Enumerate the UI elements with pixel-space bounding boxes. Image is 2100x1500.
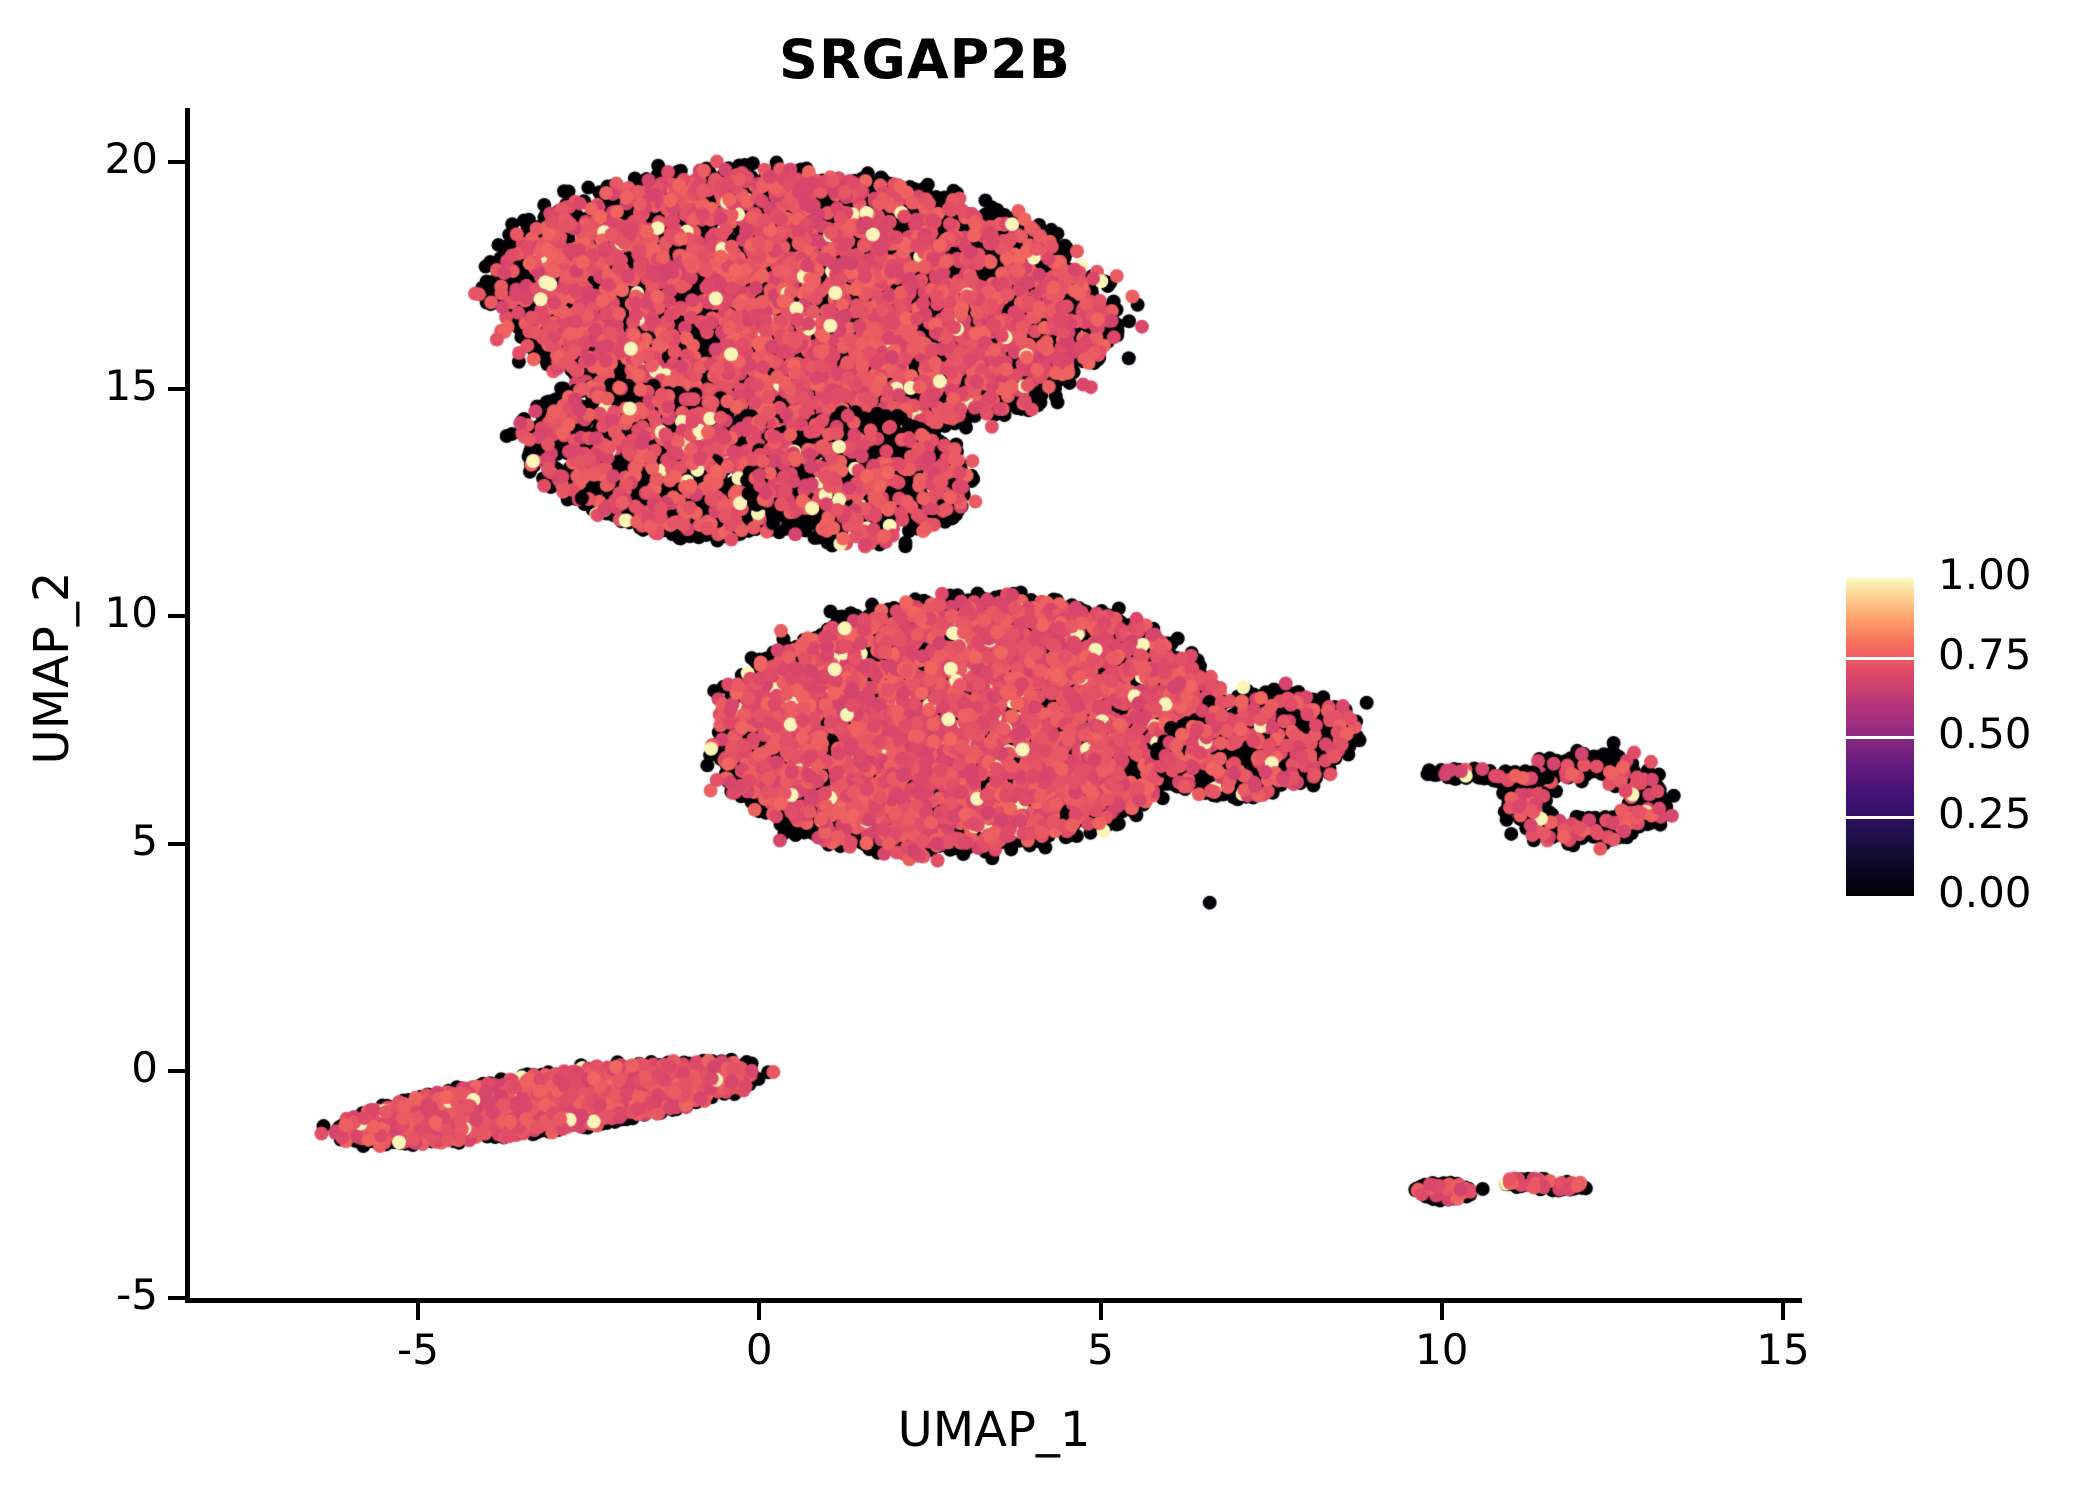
x-tick-mark bbox=[1440, 1303, 1444, 1320]
y-tick-mark bbox=[168, 1069, 185, 1073]
chart-title: SRGAP2B bbox=[0, 28, 1850, 91]
y-tick-label: 20 bbox=[0, 134, 158, 183]
colorbar[interactable]: 0.000.250.500.751.00 bbox=[1846, 578, 2076, 908]
y-tick-mark bbox=[168, 614, 185, 618]
x-axis-label: UMAP_1 bbox=[188, 1402, 1800, 1458]
colorbar-tick-label: 0.25 bbox=[1938, 789, 2032, 838]
y-tick-mark bbox=[168, 1296, 185, 1300]
colorbar-tick-mark bbox=[1846, 657, 1914, 660]
x-tick-mark bbox=[1781, 1303, 1785, 1320]
y-tick-mark bbox=[168, 842, 185, 846]
colorbar-tick-label: 0.75 bbox=[1938, 630, 2032, 679]
scatter-plot-area[interactable] bbox=[188, 110, 1800, 1298]
y-tick-mark bbox=[168, 160, 185, 164]
figure-root: SRGAP2B -505101520 -5051015 UMAP_1 UMAP_… bbox=[0, 0, 2100, 1500]
scatter-canvas[interactable] bbox=[188, 110, 1800, 1298]
x-axis-spine bbox=[185, 1298, 1802, 1303]
x-tick-mark bbox=[416, 1303, 420, 1320]
y-axis-spine bbox=[185, 108, 190, 1303]
x-tick-label: 5 bbox=[1021, 1325, 1181, 1374]
x-tick-label: 10 bbox=[1362, 1325, 1522, 1374]
x-tick-mark bbox=[1099, 1303, 1103, 1320]
y-tick-mark bbox=[168, 387, 185, 391]
colorbar-tick-label: 1.00 bbox=[1938, 550, 2032, 599]
colorbar-tick-label: 0.50 bbox=[1938, 709, 2032, 758]
x-tick-label: 0 bbox=[679, 1325, 839, 1374]
y-axis-label: UMAP_2 bbox=[24, 358, 80, 978]
colorbar-tick-label: 0.00 bbox=[1938, 868, 2032, 917]
colorbar-tick-mark bbox=[1846, 736, 1914, 739]
colorbar-tick-mark bbox=[1846, 816, 1914, 819]
y-tick-label: 0 bbox=[0, 1043, 158, 1092]
y-tick-label: -5 bbox=[0, 1270, 158, 1319]
x-tick-label: -5 bbox=[338, 1325, 498, 1374]
x-tick-label: 15 bbox=[1703, 1325, 1863, 1374]
x-tick-mark bbox=[757, 1303, 761, 1320]
